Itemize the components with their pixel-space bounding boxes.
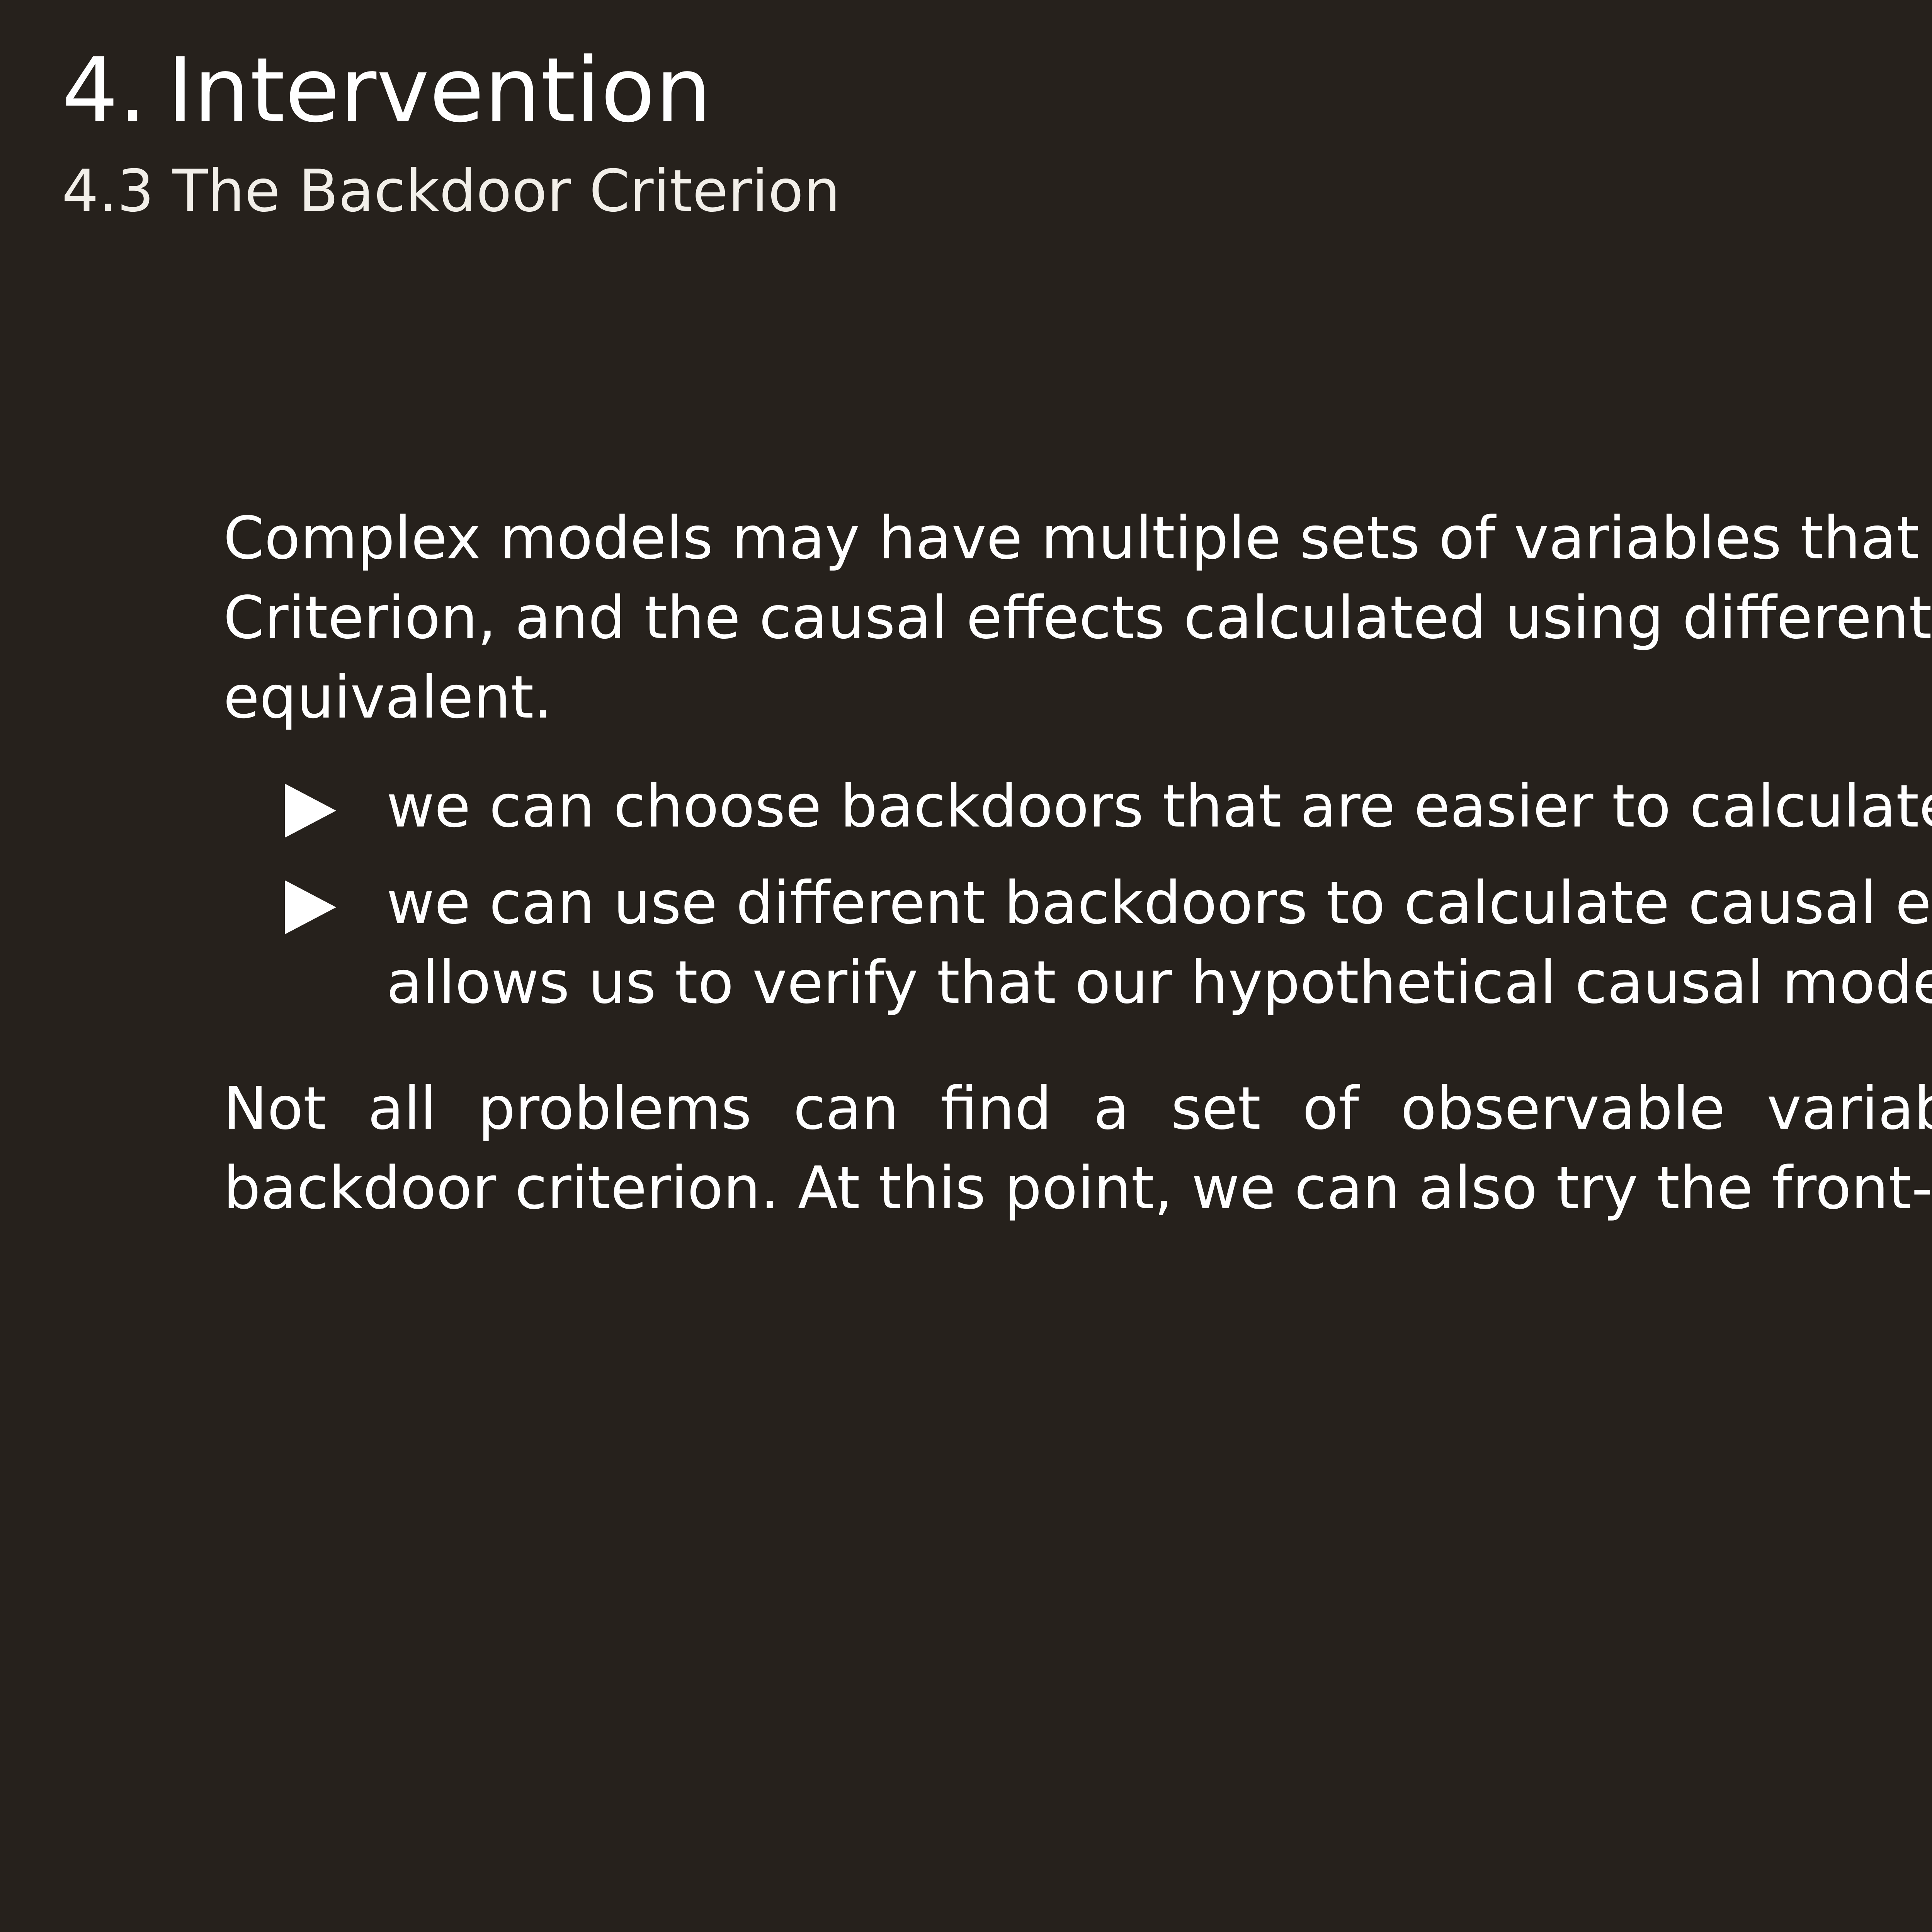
outro-paragraph: Not all problems can find a set of obser… bbox=[223, 1069, 1932, 1228]
intro-paragraph: Complex models may have multiple sets of… bbox=[223, 498, 1932, 737]
frame-subtitle: 4.3 The Backdoor Criterion bbox=[62, 162, 1932, 220]
list-item: we can choose backdoors that are easier … bbox=[223, 767, 1932, 846]
slide-body: Complex models may have multiple sets of… bbox=[223, 498, 1932, 1228]
section-title: Intervention bbox=[167, 39, 712, 142]
triangle-bullet-icon bbox=[285, 784, 336, 838]
list-item-label: we can use different backdoors to calcul… bbox=[386, 869, 1932, 1017]
list-item-label: we can choose backdoors that are easier … bbox=[386, 772, 1932, 840]
list-item: we can use different backdoors to calcul… bbox=[223, 863, 1932, 1022]
slide-header: 4.Intervention 4.3 The Backdoor Criterio… bbox=[62, 46, 1932, 220]
section-number: 4. bbox=[62, 39, 147, 142]
slide-canvas: 4.Intervention 4.3 The Backdoor Criterio… bbox=[0, 0, 1932, 1932]
bullet-list: we can choose backdoors that are easier … bbox=[223, 767, 1932, 1022]
frame-title: 4.Intervention bbox=[62, 46, 1932, 135]
triangle-bullet-icon bbox=[285, 880, 336, 934]
